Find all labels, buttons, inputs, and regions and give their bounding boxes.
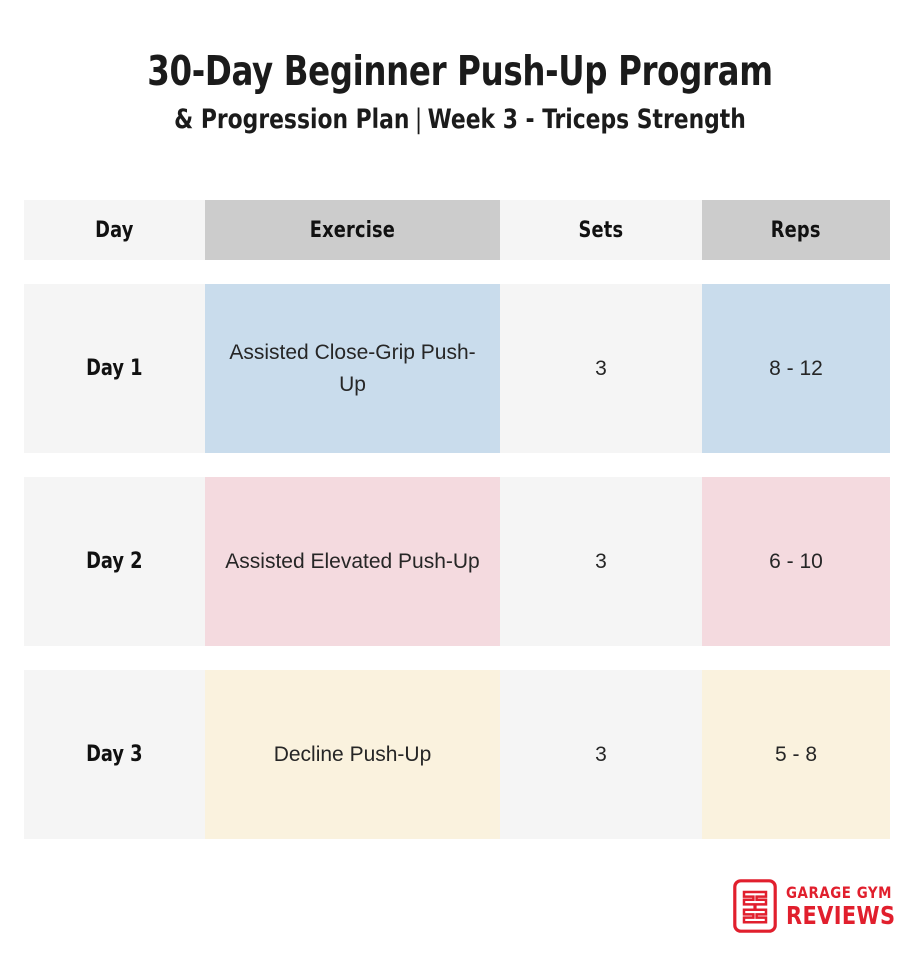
- cell-reps: 6 - 10: [702, 477, 890, 646]
- cell-sets: 3: [500, 670, 702, 839]
- column-header-sets-label: Sets: [579, 218, 624, 243]
- brand-line-1: GARAGE GYM: [786, 885, 895, 901]
- column-header-reps: Reps: [702, 200, 890, 260]
- exercise-label: Decline Push-Up: [256, 739, 450, 771]
- reps-value: 5 - 8: [775, 743, 817, 767]
- subtitle-left-text: & Progression Plan: [174, 104, 409, 135]
- subtitle-right-text: Week 3 - Triceps Strength: [428, 104, 746, 135]
- sets-value: 3: [595, 550, 607, 574]
- cell-day: Day 2: [24, 477, 205, 646]
- column-header-day: Day: [24, 200, 205, 260]
- day-label: Day 1: [86, 356, 142, 381]
- table-row: Day 2 Assisted Elevated Push-Up 3 6 - 10: [24, 477, 890, 646]
- cell-reps: 5 - 8: [702, 670, 890, 839]
- table-row: Day 1 Assisted Close-Grip Push-Up 3 8 - …: [24, 284, 890, 453]
- infographic-root: 30-Day Beginner Push-Up Program & Progre…: [0, 0, 920, 963]
- bench-press-icon: [733, 879, 777, 933]
- cell-reps: 8 - 12: [702, 284, 890, 453]
- brand-wordmark: GARAGE GYM REVIEWS: [786, 885, 904, 928]
- table-row: Day 3 Decline Push-Up 3 5 - 8: [24, 670, 890, 839]
- cell-day: Day 3: [24, 670, 205, 839]
- cell-exercise: Assisted Close-Grip Push-Up: [205, 284, 500, 453]
- brand-logo[interactable]: GARAGE GYM REVIEWS: [733, 879, 904, 933]
- column-header-sets: Sets: [500, 200, 702, 260]
- brand-line-2: REVIEWS: [786, 903, 895, 928]
- column-header-reps-label: Reps: [771, 218, 821, 243]
- column-header-exercise-label: Exercise: [310, 218, 395, 243]
- subtitle-divider: |: [409, 102, 427, 138]
- reps-value: 6 - 10: [769, 550, 823, 574]
- day-label: Day 3: [86, 742, 142, 767]
- page-title: 30-Day Beginner Push-Up Program: [55, 46, 865, 96]
- reps-value: 8 - 12: [769, 357, 823, 381]
- cell-day: Day 1: [24, 284, 205, 453]
- sets-value: 3: [595, 357, 607, 381]
- title-block: 30-Day Beginner Push-Up Program & Progre…: [0, 0, 920, 138]
- exercise-label: Assisted Close-Grip Push-Up: [205, 337, 500, 401]
- cell-exercise: Decline Push-Up: [205, 670, 500, 839]
- column-header-day-label: Day: [95, 218, 133, 243]
- exercise-label: Assisted Elevated Push-Up: [207, 546, 497, 578]
- page-subtitle: & Progression Plan|Week 3 - Triceps Stre…: [46, 102, 874, 138]
- cell-sets: 3: [500, 284, 702, 453]
- sets-value: 3: [595, 743, 607, 767]
- program-table: Day Exercise Sets Reps Day 1 Assisted Cl…: [24, 200, 890, 839]
- day-label: Day 2: [86, 549, 142, 574]
- cell-exercise: Assisted Elevated Push-Up: [205, 477, 500, 646]
- cell-sets: 3: [500, 477, 702, 646]
- column-header-exercise: Exercise: [205, 200, 500, 260]
- table-header-row: Day Exercise Sets Reps: [24, 200, 890, 260]
